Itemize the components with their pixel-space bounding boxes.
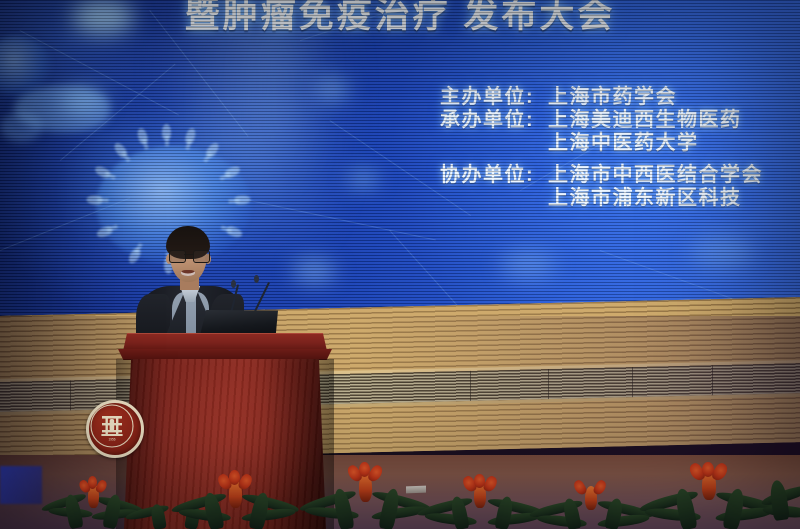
podium-top-surface: [123, 333, 327, 351]
grille-seam: [470, 371, 471, 401]
grille-seam: [632, 367, 633, 397]
organizer-value: 上海市中西医结合学会: [548, 164, 800, 187]
organizer-list: 主办单位: 上海市药学会 承办单位: 上海美迪西生物医药 承办单位: 上海中医药…: [440, 86, 800, 210]
organizer-value: 上海市药学会: [548, 86, 800, 109]
network-line: [600, 250, 751, 306]
cell-cluster: [0, 112, 42, 142]
organizer-label: 主办单位:: [440, 86, 548, 109]
cell-glow: [690, 235, 754, 269]
organizer-row: 承办单位: 上海美迪西生物医药: [440, 109, 800, 132]
conference-stage-photo: 暨肿瘤免疫治疗 发布大会 主办单位: 上海市药学会 承办单位: 上海美迪西生物医…: [0, 0, 800, 529]
light-beam: [180, 0, 300, 170]
organizer-spacer: [440, 155, 800, 164]
network-line: [0, 198, 130, 251]
svg-text:1956: 1956: [108, 438, 115, 442]
glasses-bridge: [184, 254, 193, 255]
grille-seam: [548, 369, 549, 399]
network-line: [300, 0, 500, 41]
network-line: [60, 64, 176, 161]
light-beam: [236, 0, 326, 230]
podium-body: [124, 359, 326, 529]
organizer-value: 上海美迪西生物医药: [548, 109, 800, 132]
organizer-row: 主办单位: 上海市药学会: [440, 86, 800, 109]
cell-glow: [72, 0, 134, 34]
led-screen-backdrop: 暨肿瘤免疫治疗 发布大会 主办单位: 上海市药学会 承办单位: 上海美迪西生物医…: [0, 0, 800, 325]
cell-glow: [292, 258, 336, 284]
university-crest-icon: 1956: [86, 400, 144, 458]
organizer-row: 协办单位: 上海市浦东新区科技: [440, 187, 800, 210]
podium: [116, 333, 334, 529]
eyeglasses: [169, 250, 208, 261]
organizer-label: 承办单位:: [440, 109, 548, 132]
cell-glow: [348, 170, 378, 188]
organizer-label: 协办单位:: [440, 164, 548, 187]
microphone-head-right: [254, 275, 259, 283]
grille-seam: [70, 380, 71, 410]
coronavirus-particle-secondary: [0, 36, 52, 96]
lens-right: [193, 250, 210, 263]
blue-light-fixture: [0, 466, 42, 504]
grille-seam: [712, 365, 713, 395]
cell-glow: [315, 78, 349, 100]
network-line: [149, 10, 248, 137]
network-line: [329, 120, 470, 216]
podium-lip: [118, 349, 332, 360]
organizer-value: 上海市浦东新区科技: [548, 187, 800, 210]
lens-left: [169, 250, 186, 263]
network-line: [520, 100, 676, 191]
microphone-head-left: [231, 280, 236, 288]
mouth: [181, 270, 195, 276]
floor-marker-card: [406, 486, 426, 494]
network-line: [250, 200, 436, 240]
network-line: [20, 30, 179, 115]
organizer-row: 承办单位: 上海中医药大学: [440, 132, 800, 155]
cell-cluster: [14, 86, 110, 132]
organizer-row: 协办单位: 上海市中西医结合学会: [440, 164, 800, 187]
organizer-value: 上海中医药大学: [548, 132, 800, 155]
cell-glow: [500, 250, 556, 280]
cell-glow: [60, 88, 106, 114]
slide-title: 暨肿瘤免疫治疗 发布大会: [0, 0, 800, 38]
